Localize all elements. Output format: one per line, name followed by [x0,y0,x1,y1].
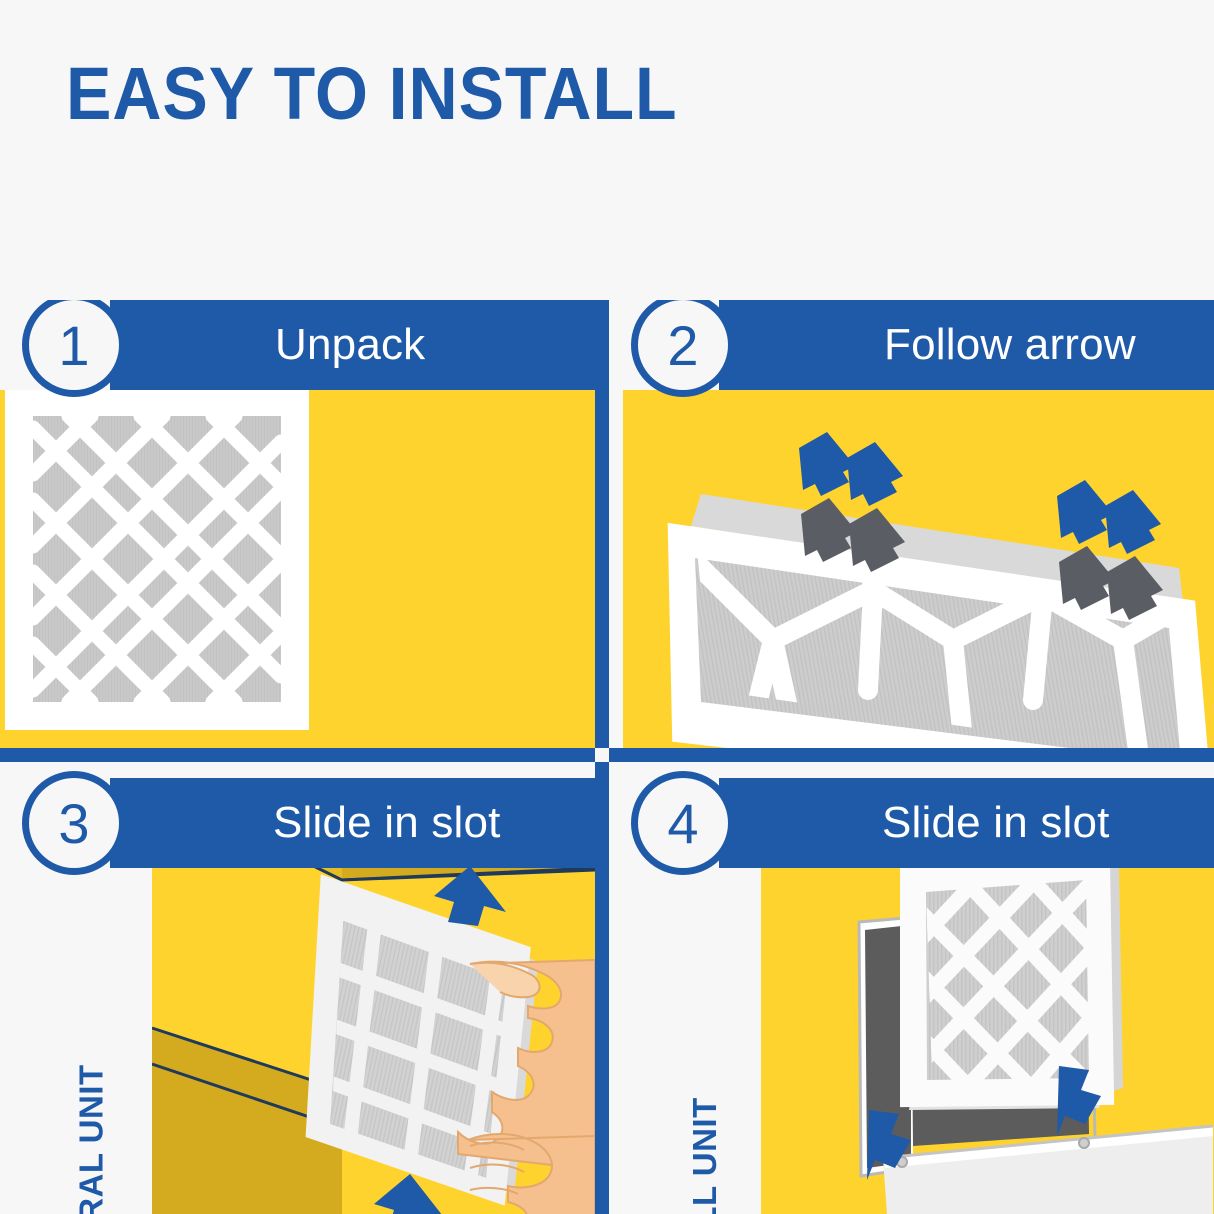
step-4-label: Slide in slot [882,798,1110,848]
step-1-label: Unpack [275,320,425,370]
step-4-header-bar: Slide in slot [719,778,1214,868]
step-1-illustration-stage [0,390,595,748]
flat-air-filter-graphic [0,390,595,748]
step-3-side-caption: CENTRAL UNIT [44,834,140,1208]
step-4-number-badge: 4 [631,771,735,875]
step-2-illustration-stage [623,390,1214,748]
panel-divider-horizontal-left [0,748,595,762]
panel-divider-vertical-bottom [595,762,609,1214]
step-4-side-caption-text: WALL UNIT [686,1097,724,1214]
airflow-arrow-blue-left [799,432,903,506]
step-3-side-caption-text: CENTRAL UNIT [73,1064,111,1214]
tilted-filter-airflow-graphic [623,390,1214,748]
step-1-header-bar: Unpack [110,300,595,390]
infographic-page: EASY TO INSTALL [0,0,1214,1214]
panel-divider-horizontal-right [609,748,1214,762]
step-panel-1: Unpack 1 [0,300,595,748]
step-3-header-bar: Slide in slot [110,778,595,868]
step-4-side-caption: WALL UNIT [657,834,753,1208]
step-3-label: Slide in slot [273,798,501,848]
central-unit-install-graphic [152,840,595,1214]
step-panel-2: Follow arrow 2 [609,300,1214,748]
grille-screw-right [1079,1138,1089,1148]
wall-unit-install-graphic [761,840,1214,1214]
step-2-header-bar: Follow arrow [719,300,1214,390]
airflow-arrow-blue-right [1057,480,1161,554]
step-4-illustration-stage [761,840,1214,1214]
step-panel-3: CENTRAL UNIT Slide in slot 3 [0,762,595,1214]
step-2-label: Follow arrow [884,320,1136,370]
step-3-illustration-stage [152,840,595,1214]
step-panel-4: WALL UNIT Slide in slot 4 [609,762,1214,1214]
panel-divider-vertical-top [595,300,609,748]
page-title: EASY TO INSTALL [66,52,677,136]
step-3-number-badge: 3 [22,771,126,875]
